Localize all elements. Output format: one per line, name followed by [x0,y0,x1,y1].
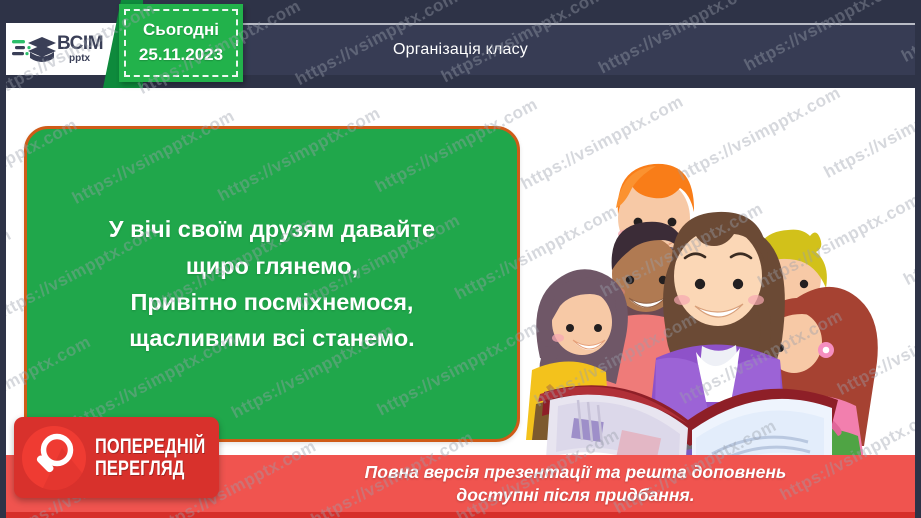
poem-line-2: щиро глянемо, [43,248,501,284]
preview-badge-line-1: ПОПЕРЕДНІЙ [95,436,205,457]
frame-edge-right [915,0,921,518]
poem-card: У вічі своїм друзям давайте щиро глянемо… [24,126,520,442]
presentation-slide: У вічі своїм друзям давайте щиро глянемо… [0,0,921,518]
poem-line-1: У вічі своїм друзям давайте [43,211,501,247]
brand-name: ВСІМ [57,34,103,53]
today-date-badge: Сьогодні 25.11.2023 [119,4,243,82]
brand-logo[interactable]: ВСІМ pptx [6,23,119,75]
poem-text: У вічі своїм друзям давайте щиро глянемо… [27,211,517,357]
magnifier-icon [22,426,86,490]
graduation-cap-icon [12,32,56,66]
preview-badge-line-2: ПЕРЕГЛЯД [95,458,205,479]
brand-suffix: pptx [69,54,103,64]
preview-badge[interactable]: ПОПЕРЕДНІЙ ПЕРЕГЛЯД [14,417,219,498]
teacher-reading-with-children-illustration [526,108,886,460]
date-badge-value: 25.11.2023 [139,43,223,68]
poem-line-3: Привітно посміхнемося, [43,284,501,320]
poem-line-4: щасливими всі станемо. [43,320,501,356]
date-badge-label: Сьогодні [143,18,219,43]
frame-edge-left [0,0,6,518]
